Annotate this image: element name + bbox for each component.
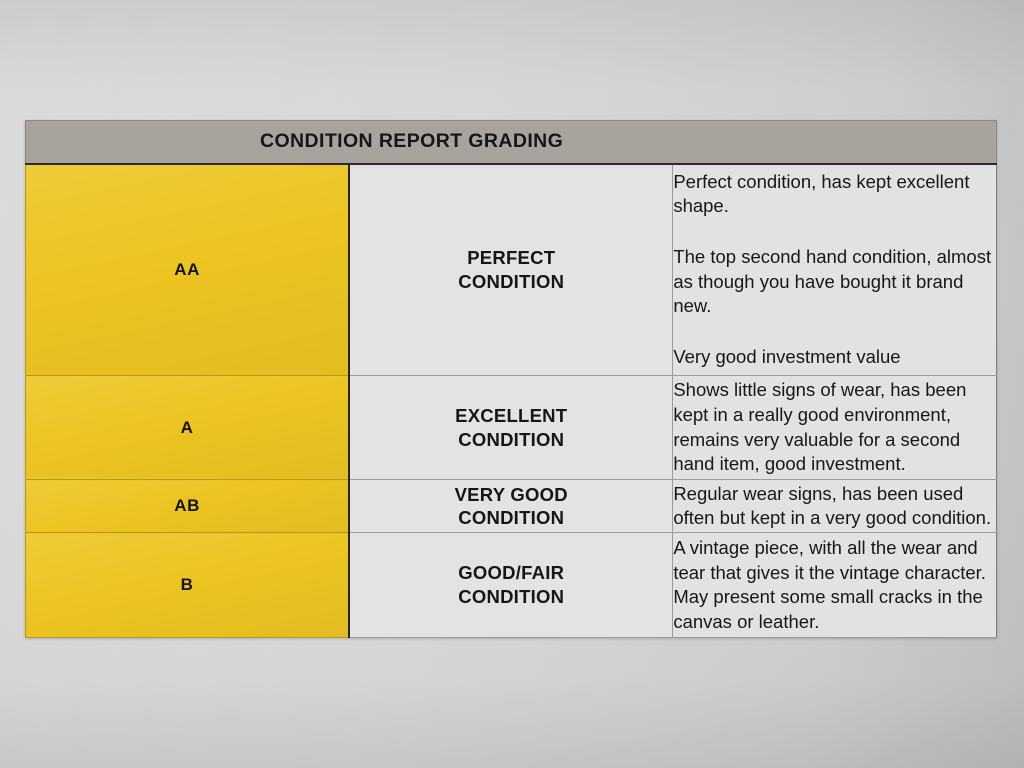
table-title-cell: CONDITION REPORT GRADING bbox=[26, 121, 997, 164]
grade-label: AA bbox=[174, 260, 200, 279]
grade-label: A bbox=[181, 418, 194, 437]
condition-name-cell-ab: VERY GOOD CONDITION bbox=[349, 480, 673, 533]
condition-name-line-1: EXCELLENT bbox=[350, 404, 672, 428]
condition-report-grading-table: CONDITION REPORT GRADING AA PERFECT COND… bbox=[25, 120, 997, 638]
table-row: AB VERY GOOD CONDITION Regular wear sign… bbox=[26, 480, 997, 533]
condition-name-line-2: CONDITION bbox=[350, 270, 672, 294]
table-body: AA PERFECT CONDITION Perfect condition, … bbox=[26, 164, 997, 638]
grade-cell-a: A bbox=[26, 375, 350, 480]
condition-name-line-1: GOOD/FAIR bbox=[350, 561, 672, 585]
table-row: B GOOD/FAIR CONDITION A vintage piece, w… bbox=[26, 533, 997, 638]
description-paragraph: Shows little signs of wear, has been kep… bbox=[673, 378, 996, 476]
condition-name-line-2: CONDITION bbox=[350, 585, 672, 609]
description-cell-aa: Perfect condition, has kept excellent sh… bbox=[673, 164, 997, 376]
page-title: CONDITION REPORT GRADING bbox=[26, 121, 996, 162]
description-paragraph: A vintage piece, with all the wear and t… bbox=[673, 536, 996, 634]
description-paragraph: The top second hand condition, almost as… bbox=[673, 245, 996, 319]
condition-name-line-1: VERY GOOD bbox=[350, 483, 672, 507]
condition-name-cell-a: EXCELLENT CONDITION bbox=[349, 375, 673, 480]
description-paragraph: Regular wear signs, has been used often … bbox=[673, 482, 996, 531]
description-paragraph: Perfect condition, has kept excellent sh… bbox=[673, 170, 996, 219]
table-header-row: CONDITION REPORT GRADING bbox=[26, 121, 997, 164]
table-row: A EXCELLENT CONDITION Shows little signs… bbox=[26, 375, 997, 480]
description-cell-a: Shows little signs of wear, has been kep… bbox=[673, 375, 997, 480]
grade-label: AB bbox=[174, 496, 200, 515]
condition-name-line-2: CONDITION bbox=[350, 506, 672, 530]
condition-name-line-2: CONDITION bbox=[350, 428, 672, 452]
grade-cell-aa: AA bbox=[26, 164, 350, 376]
condition-name-cell-b: GOOD/FAIR CONDITION bbox=[349, 533, 673, 638]
grade-cell-ab: AB bbox=[26, 480, 350, 533]
description-cell-ab: Regular wear signs, has been used often … bbox=[673, 480, 997, 533]
condition-name-cell-aa: PERFECT CONDITION bbox=[349, 164, 673, 376]
table-header: CONDITION REPORT GRADING bbox=[26, 121, 997, 164]
description-cell-b: A vintage piece, with all the wear and t… bbox=[673, 533, 997, 638]
grade-cell-b: B bbox=[26, 533, 350, 638]
table-row: AA PERFECT CONDITION Perfect condition, … bbox=[26, 164, 997, 376]
condition-name-line-1: PERFECT bbox=[350, 246, 672, 270]
description-paragraph: Very good investment value bbox=[673, 345, 996, 370]
grade-label: B bbox=[181, 575, 194, 594]
